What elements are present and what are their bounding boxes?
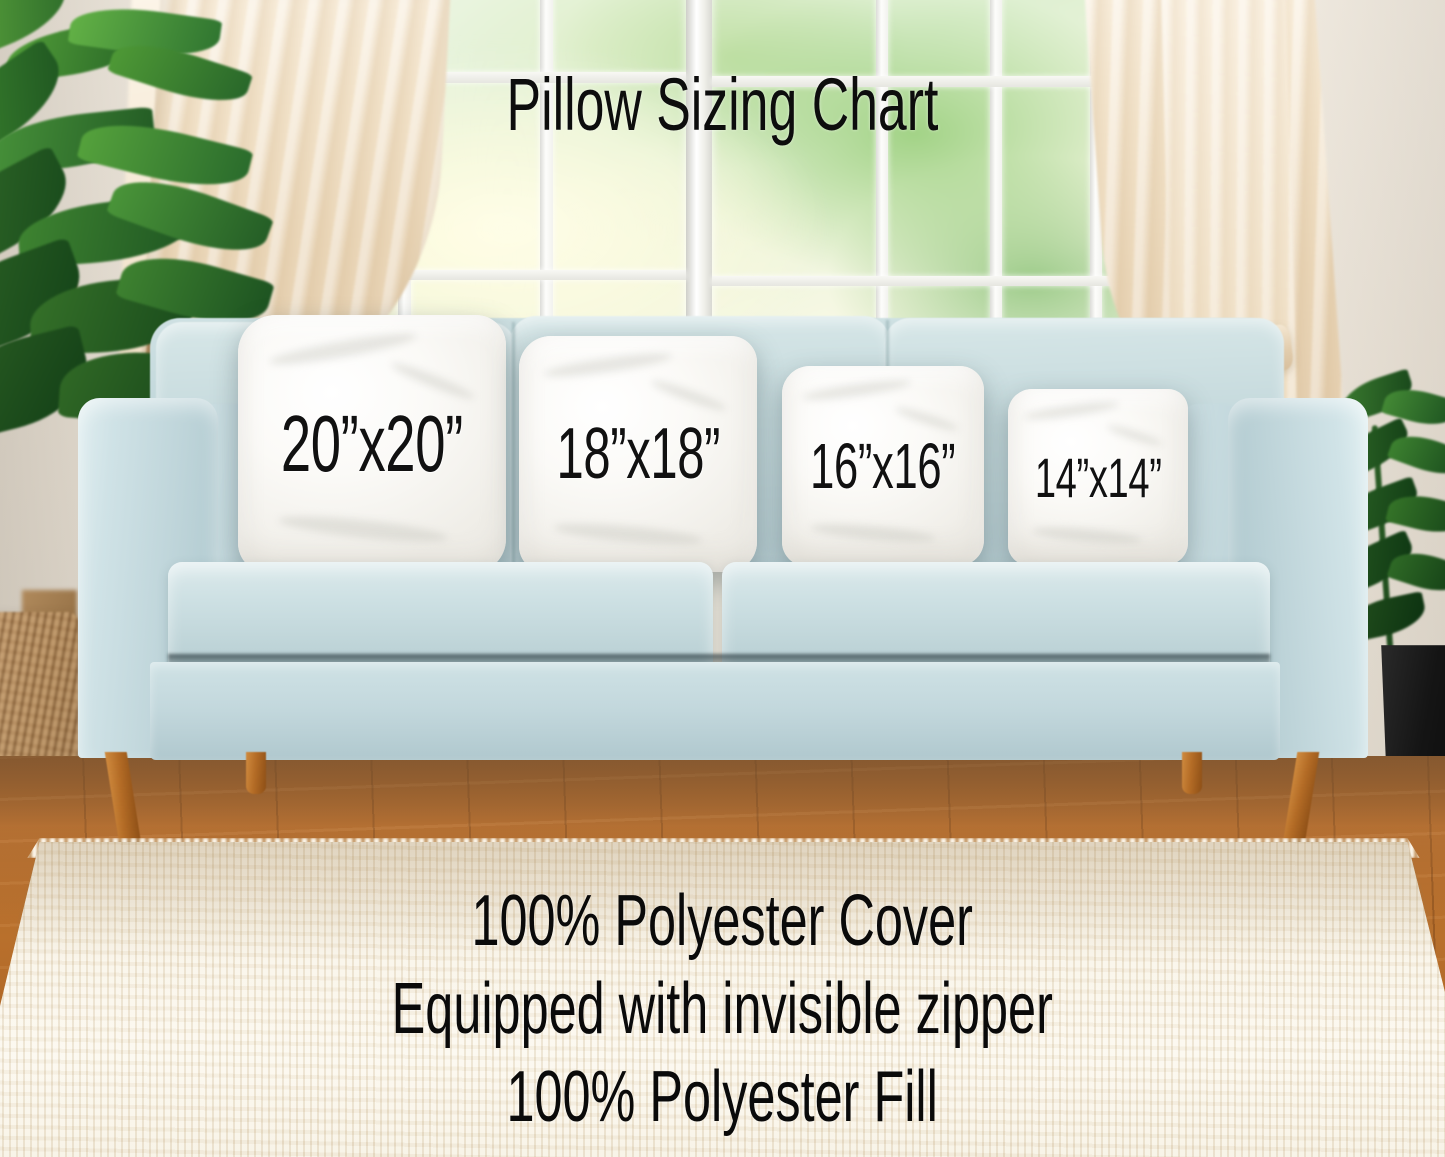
sofa-leg-back-right (1182, 752, 1202, 794)
pillow-sizing-chart-image: 20”x20” 18”x18” 16”x16” 14”x14” Pillow S… (0, 0, 1445, 1157)
sofa-leg-back-left (246, 752, 266, 794)
pillow-18[interactable]: 18”x18” (519, 336, 757, 572)
pillow-14[interactable]: 14”x14” (1008, 389, 1188, 565)
spec-line-3: 100% Polyester Fill (0, 1056, 1445, 1138)
spec-line-1-text: 100% Polyester Cover (472, 880, 973, 962)
page-title: Pillow Sizing Chart (0, 62, 1445, 147)
sofa-base (150, 662, 1280, 760)
pillow-14-label: 14”x14” (1035, 445, 1162, 510)
spec-line-3-text: 100% Polyester Fill (507, 1056, 938, 1138)
pillow-16-label: 16”x16” (810, 429, 955, 503)
spec-line-2: Equipped with invisible zipper (0, 968, 1445, 1050)
spec-line-2-text: Equipped with invisible zipper (392, 968, 1053, 1050)
pillow-18-label: 18”x18” (556, 413, 720, 495)
pillow-20-label: 20”x20” (281, 398, 463, 490)
page-title-text: Pillow Sizing Chart (507, 62, 939, 147)
sofa-cushion-seam (512, 322, 515, 572)
spec-line-1: 100% Polyester Cover (0, 880, 1445, 962)
pillow-20[interactable]: 20”x20” (238, 315, 506, 573)
window-mullion-horizontal (712, 276, 1130, 286)
pillow-16[interactable]: 16”x16” (782, 366, 984, 566)
